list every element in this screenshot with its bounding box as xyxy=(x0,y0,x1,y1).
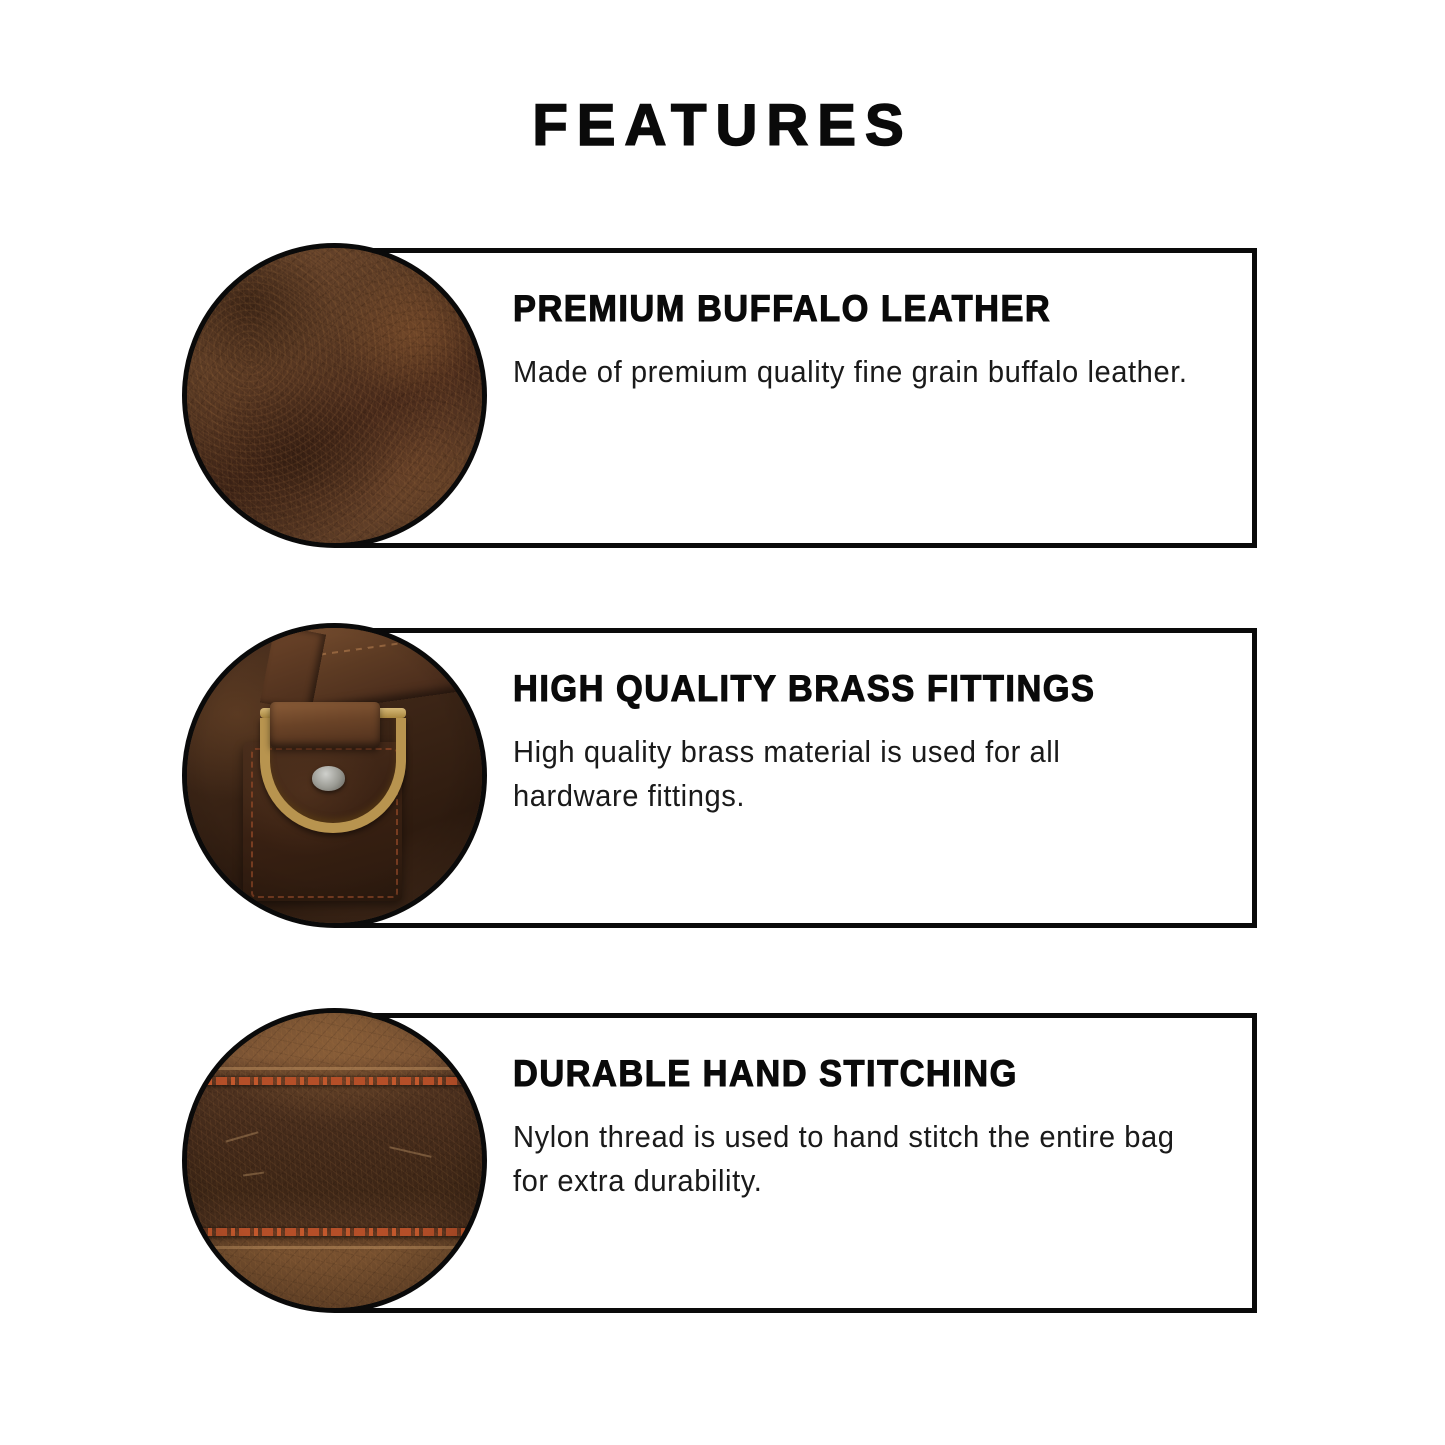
feature-heading: PREMIUM BUFFALO LEATHER xyxy=(513,288,1183,330)
page-title: FEATURES xyxy=(0,92,1445,159)
feature-image-circle xyxy=(182,1008,487,1313)
photo-vignette xyxy=(182,1008,487,1313)
feature-row: HIGH QUALITY BRASS FITTINGS High quality… xyxy=(182,623,1257,933)
feature-description: High quality brass material is used for … xyxy=(513,730,1190,818)
feature-text-block: HIGH QUALITY BRASS FITTINGS High quality… xyxy=(513,668,1233,818)
brass-d-ring-fitting-photo xyxy=(182,623,487,928)
photo-vignette xyxy=(182,243,487,548)
feature-text-block: PREMIUM BUFFALO LEATHER Made of premium … xyxy=(513,288,1233,394)
hand-stitching-detail-photo xyxy=(182,1008,487,1313)
feature-image-circle xyxy=(182,623,487,928)
feature-row: DURABLE HAND STITCHING Nylon thread is u… xyxy=(182,1008,1257,1318)
feature-heading: HIGH QUALITY BRASS FITTINGS xyxy=(513,668,1183,710)
features-infographic: FEATURES PREMIUM BUFFALO LEATHER Made of… xyxy=(0,0,1445,1445)
feature-text-block: DURABLE HAND STITCHING Nylon thread is u… xyxy=(513,1053,1233,1203)
feature-heading: DURABLE HAND STITCHING xyxy=(513,1053,1183,1095)
photo-vignette xyxy=(182,623,487,928)
buffalo-leather-texture-photo xyxy=(182,243,487,548)
feature-description: Made of premium quality fine grain buffa… xyxy=(513,350,1190,394)
feature-description: Nylon thread is used to hand stitch the … xyxy=(513,1115,1190,1203)
feature-row: PREMIUM BUFFALO LEATHER Made of premium … xyxy=(182,243,1257,553)
feature-image-circle xyxy=(182,243,487,548)
